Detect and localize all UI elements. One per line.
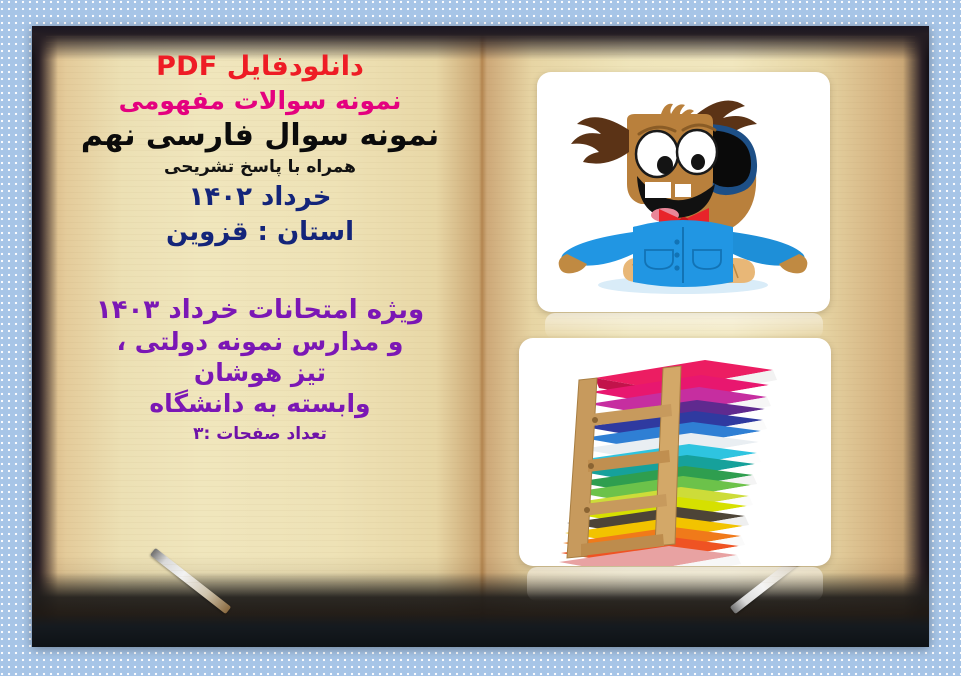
- title-download-pdf: دانلودفایل PDF: [60, 52, 460, 81]
- cartoon-dog-card: [537, 72, 830, 312]
- label-province: استان : قزوین: [60, 218, 460, 246]
- label-for-exams: ویژه امتحانات خرداد ۱۴۰۳: [60, 296, 460, 324]
- note-with-answers: همراه با پاسخ تشریحی: [60, 158, 460, 176]
- subtitle-conceptual: نمونه سوالات مفهومی: [60, 87, 460, 114]
- label-public-schools: و مدارس نمونه دولتی ،: [60, 328, 460, 355]
- text-spacer: [60, 246, 460, 290]
- label-gifted-schools: تیز هوشان: [60, 359, 460, 386]
- poster-root: دانلودفایل PDF نمونه سوالات مفهومی نمونه…: [0, 0, 961, 676]
- text-column: دانلودفایل PDF نمونه سوالات مفهومی نمونه…: [60, 52, 460, 552]
- label-date: خرداد ۱۴۰۲: [60, 183, 460, 211]
- cartoon-dog-icon: [537, 72, 830, 312]
- label-page-count: تعداد صفحات :۳: [60, 425, 460, 443]
- heading-sample-farsi-9: نمونه سوال فارسی نهم: [60, 120, 460, 152]
- books-ladder-icon: [519, 338, 831, 566]
- label-university: وابسته به دانشگاه: [60, 390, 460, 417]
- books-ladder-card: [519, 338, 831, 566]
- book-bottom-shadow: [32, 555, 929, 647]
